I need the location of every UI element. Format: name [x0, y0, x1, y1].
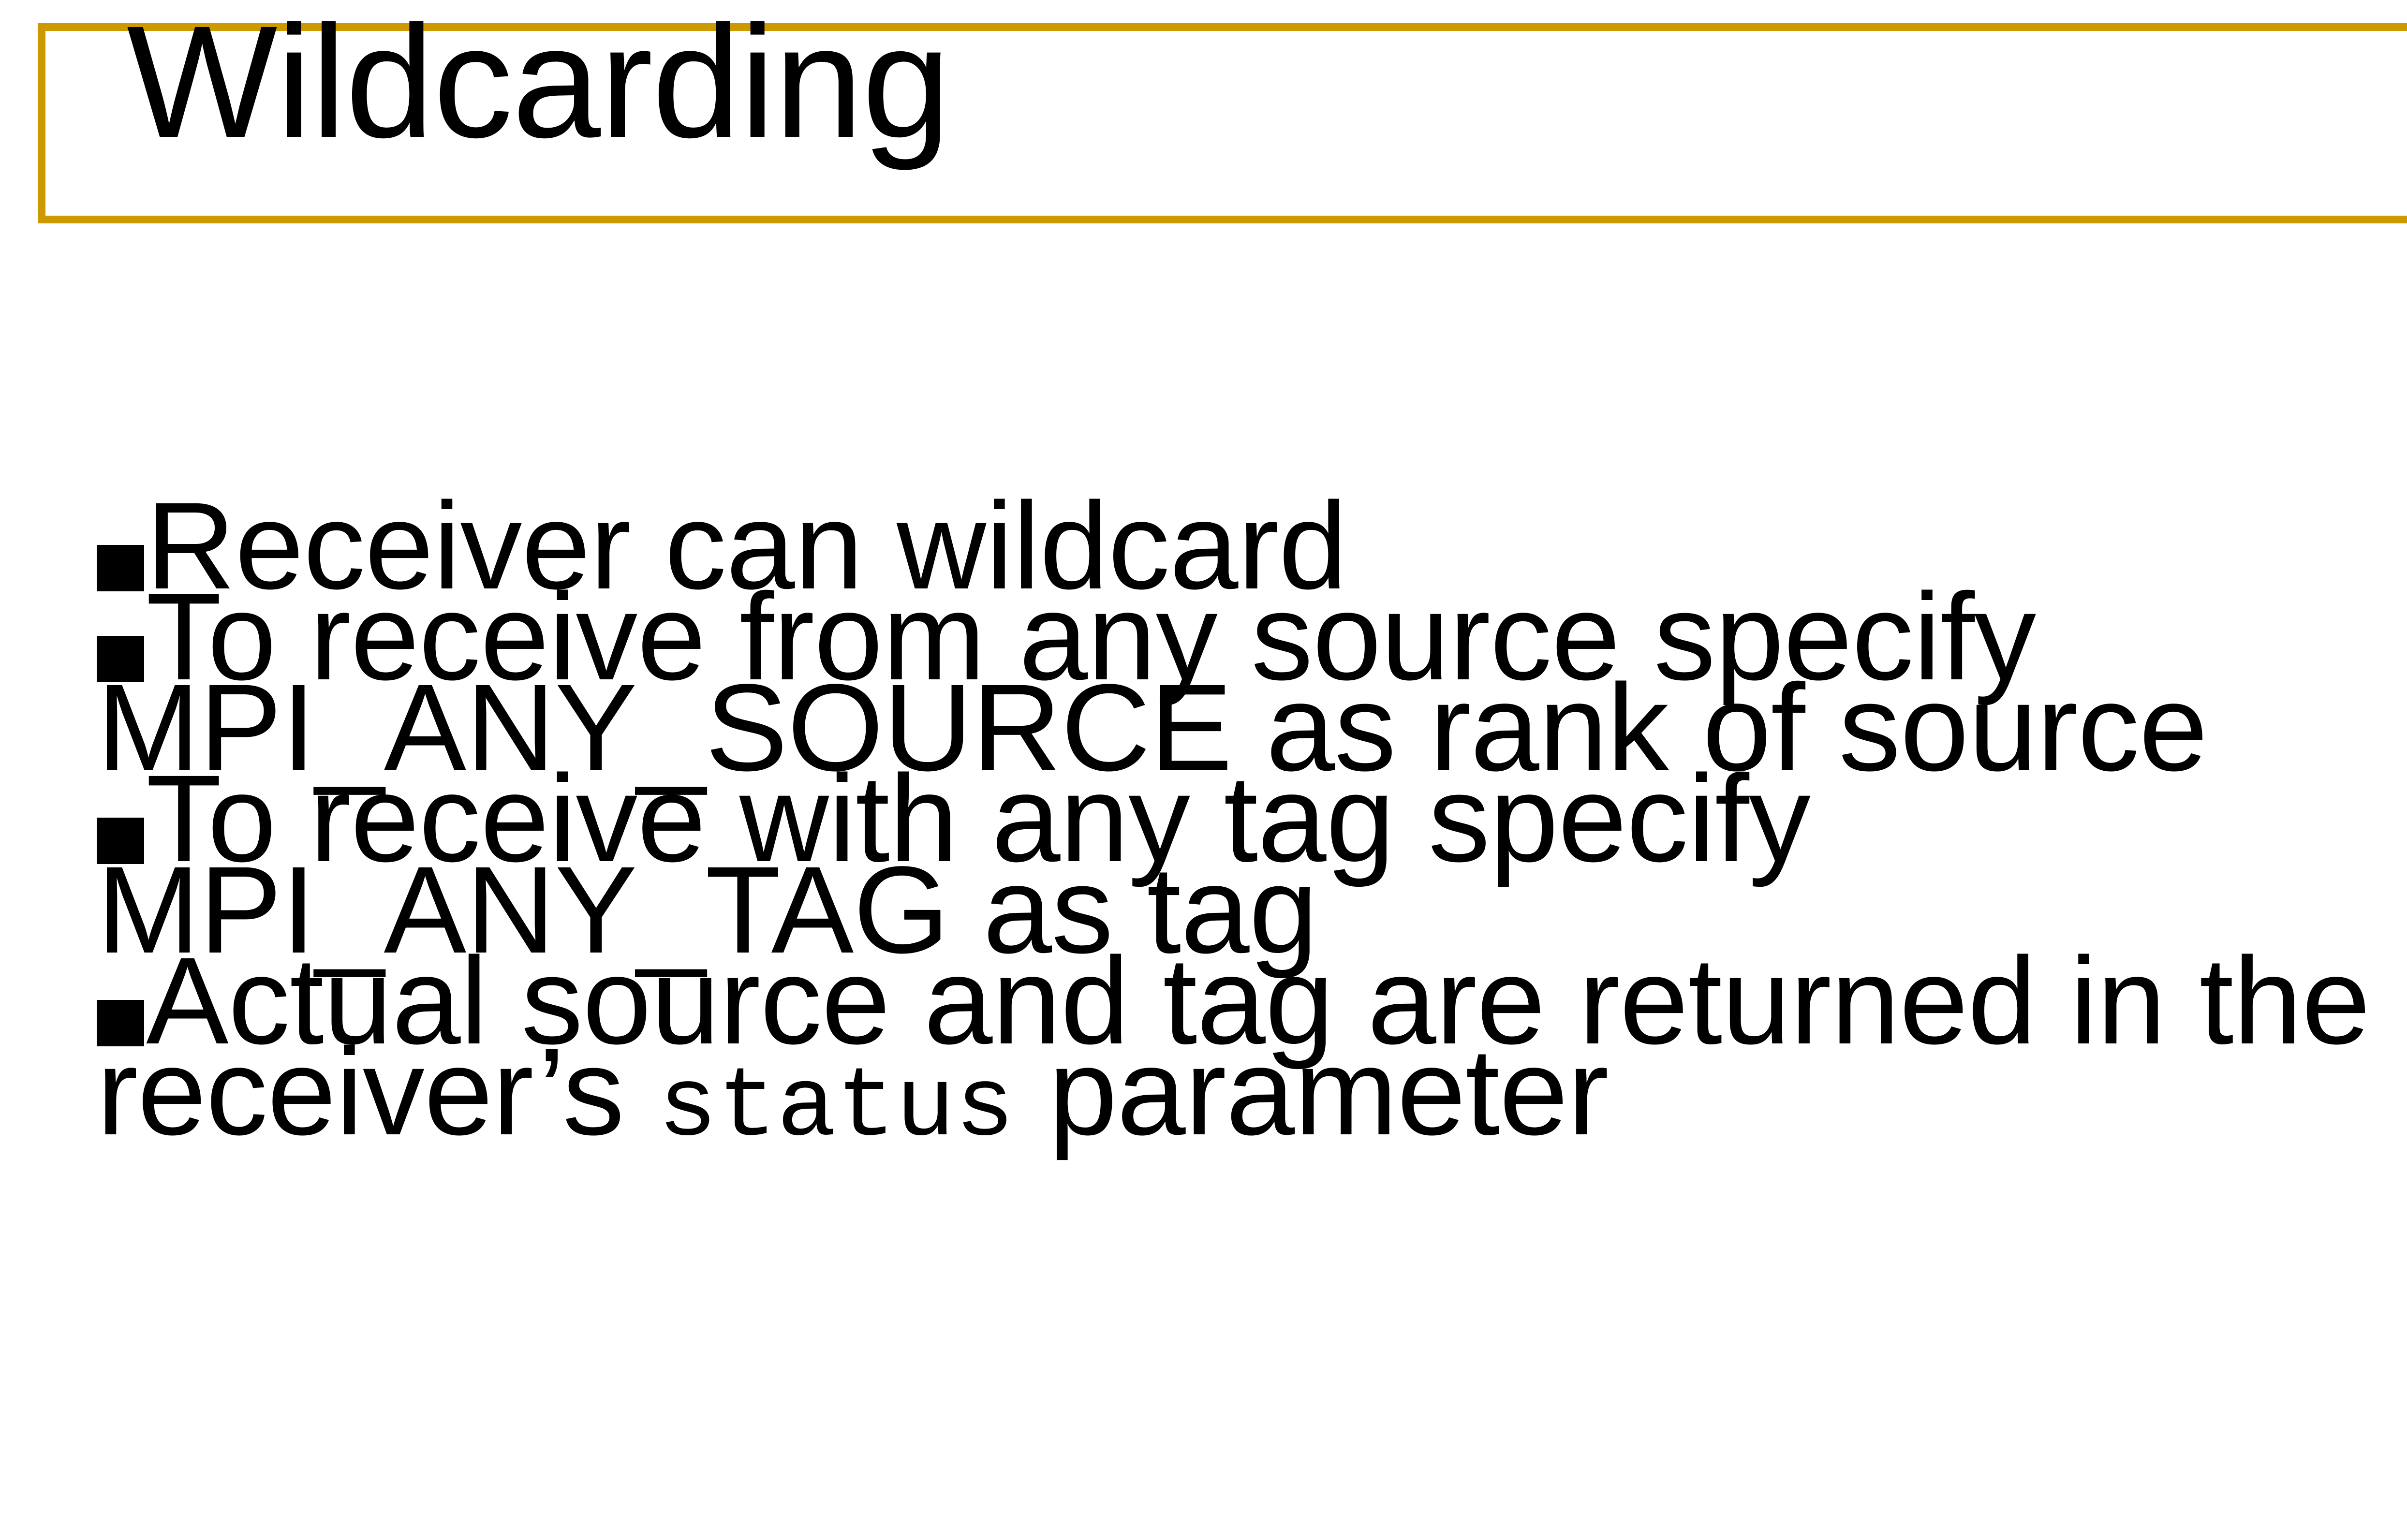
list-item: Actual source and tag are returned in th…: [97, 955, 2379, 1145]
title-frame: Wildcarding: [38, 23, 2407, 223]
square-bullet-icon: [97, 545, 144, 591]
list-item-label-cont-before: receiver’s: [97, 1023, 658, 1161]
page-title: Wildcarding: [127, 2, 950, 161]
list-item: To receive from any source specify MPI_A…: [97, 591, 2379, 773]
code-token-status: status: [658, 1052, 1014, 1164]
bullet-list: Receiver can wildcard To receive from an…: [97, 500, 2379, 1144]
list-item-label-cont-after: parameter: [1015, 1023, 1609, 1161]
list-item: To receive with any tag specify MPI_ANY_…: [97, 773, 2379, 955]
